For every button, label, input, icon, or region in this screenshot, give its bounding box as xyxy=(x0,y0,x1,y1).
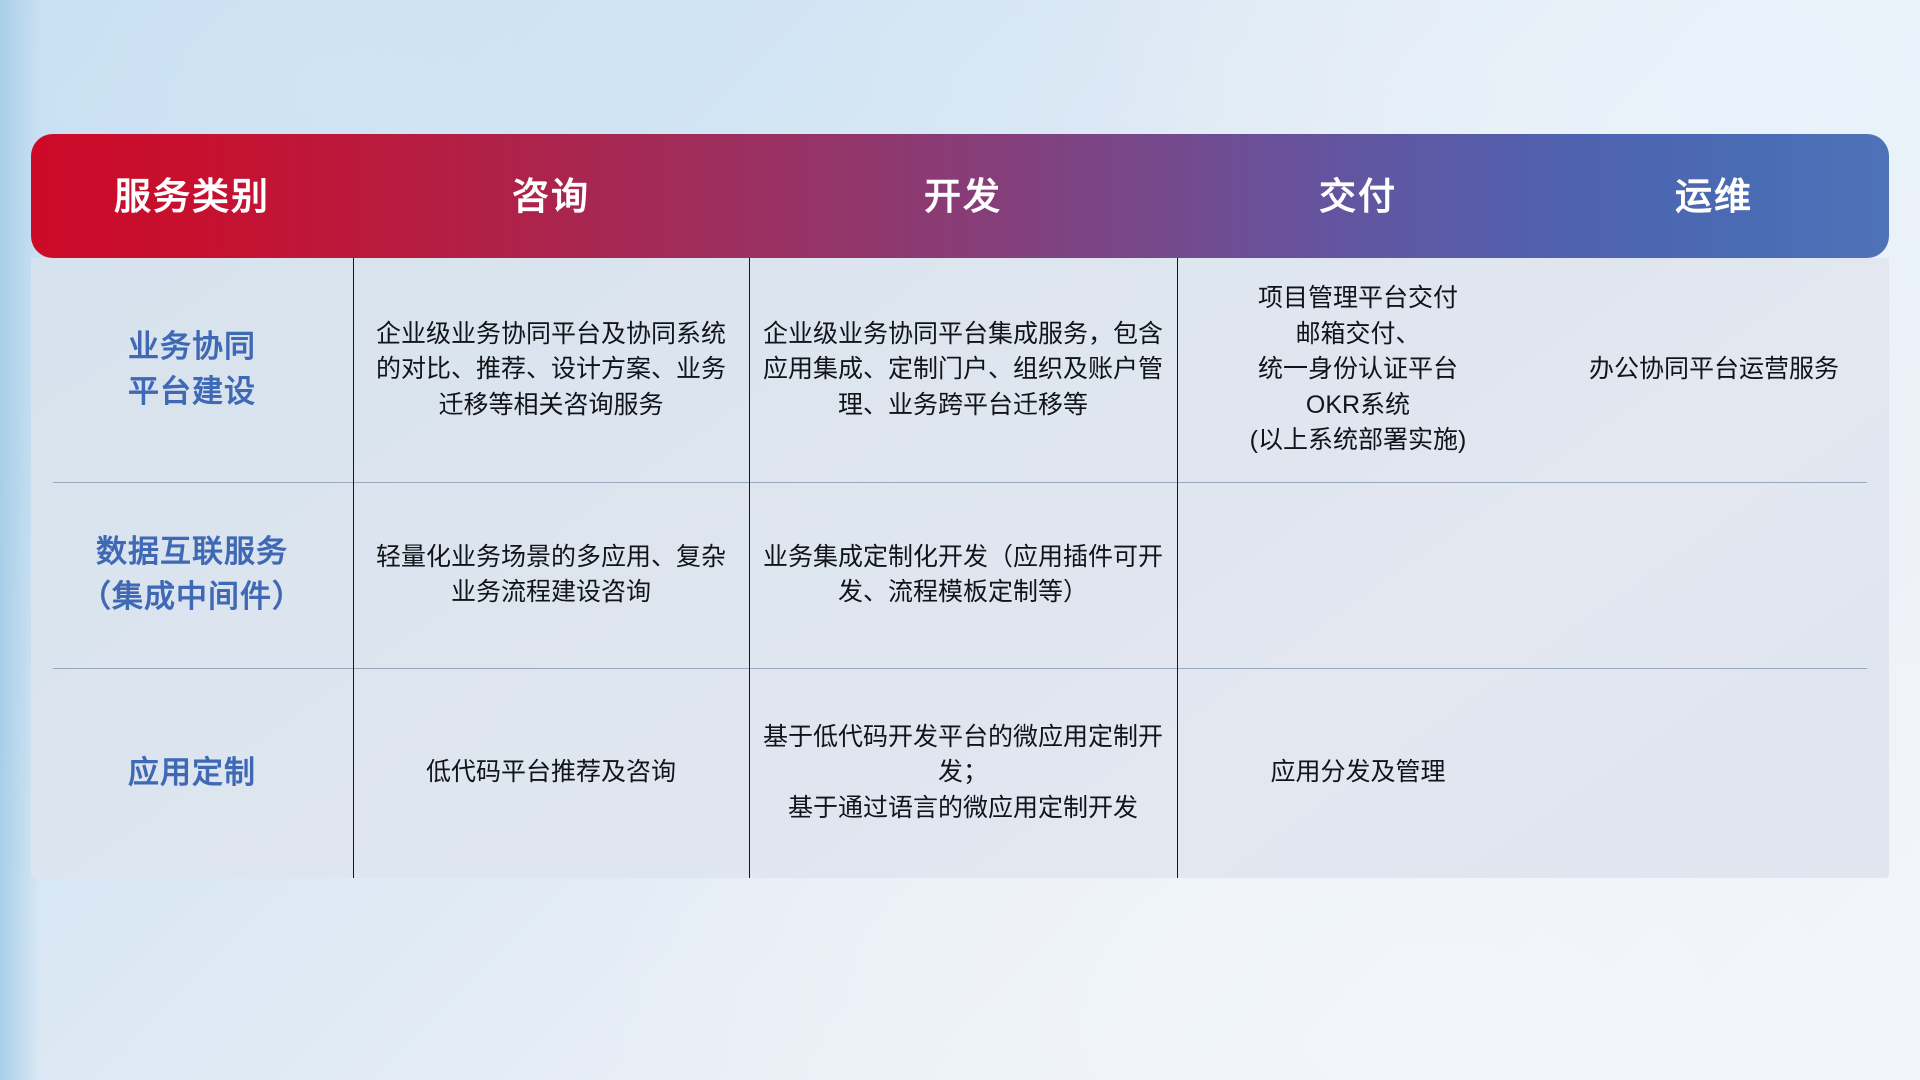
cell-development: 基于低代码开发平台的微应用定制开发； 基于通过语言的微应用定制开发 xyxy=(749,668,1177,878)
cell-delivery xyxy=(1177,482,1539,668)
cell-delivery: 应用分发及管理 xyxy=(1177,668,1539,878)
row-category-label: 数据互联服务 （集成中间件） xyxy=(31,482,353,668)
cell-operations xyxy=(1539,482,1889,668)
cell-development: 企业级业务协同平台集成服务，包含应用集成、定制门户、组织及账户管理、业务跨平台迁… xyxy=(749,258,1177,482)
cell-consulting: 轻量化业务场景的多应用、复杂业务流程建设咨询 xyxy=(353,482,749,668)
row-category-label: 应用定制 xyxy=(31,668,353,878)
table-header-cell-development: 开发 xyxy=(749,134,1177,258)
cell-delivery: 项目管理平台交付 邮箱交付、 统一身份认证平台 OKR系统 (以上系统部署实施) xyxy=(1177,258,1539,482)
cell-operations xyxy=(1539,668,1889,878)
table-header-row: 服务类别 咨询 开发 交付 运维 xyxy=(31,134,1889,258)
table-header-cell-operations: 运维 xyxy=(1539,134,1889,258)
table-body: 业务协同 平台建设 企业级业务协同平台及协同系统的对比、推荐、设计方案、业务迁移… xyxy=(31,258,1889,878)
table-header-cell-category: 服务类别 xyxy=(31,134,353,258)
table-row: 数据互联服务 （集成中间件） 轻量化业务场景的多应用、复杂业务流程建设咨询 业务… xyxy=(31,482,1889,668)
table-header-cell-delivery: 交付 xyxy=(1177,134,1539,258)
table-header-cell-consulting: 咨询 xyxy=(353,134,749,258)
cell-consulting: 企业级业务协同平台及协同系统的对比、推荐、设计方案、业务迁移等相关咨询服务 xyxy=(353,258,749,482)
row-category-label: 业务协同 平台建设 xyxy=(31,258,353,482)
cell-consulting: 低代码平台推荐及咨询 xyxy=(353,668,749,878)
cell-development: 业务集成定制化开发（应用插件可开发、流程模板定制等） xyxy=(749,482,1177,668)
table-row: 业务协同 平台建设 企业级业务协同平台及协同系统的对比、推荐、设计方案、业务迁移… xyxy=(31,258,1889,482)
table-row: 应用定制 低代码平台推荐及咨询 基于低代码开发平台的微应用定制开发； 基于通过语… xyxy=(31,668,1889,878)
service-matrix-table: 服务类别 咨询 开发 交付 运维 业务协同 平台建设 企业级业务协同平台及协同系… xyxy=(31,134,1889,878)
cell-operations: 办公协同平台运营服务 xyxy=(1539,258,1889,482)
slide-canvas: 服务类别 咨询 开发 交付 运维 业务协同 平台建设 企业级业务协同平台及协同系… xyxy=(0,0,1920,1080)
